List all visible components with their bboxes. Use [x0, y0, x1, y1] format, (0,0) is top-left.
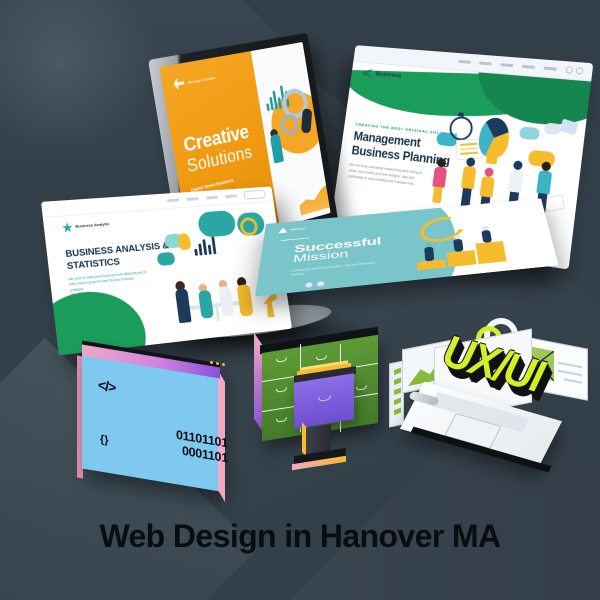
- page-title: Web Design in Hanover MA: [0, 518, 600, 555]
- plant-pot-icon: [263, 299, 278, 318]
- business-analysis-screen: Business Analytic BUSINESS ANALYSIS & ST…: [41, 186, 292, 355]
- filing-cabinet: [250, 334, 390, 480]
- nav-item[interactable]: [544, 67, 557, 71]
- nav-cta-button[interactable]: [243, 190, 266, 200]
- illustration-person: [458, 157, 477, 209]
- logo-text: Design Studio: [187, 75, 216, 85]
- triangle-logo-icon: [278, 227, 288, 233]
- nav-item[interactable]: [206, 196, 218, 199]
- code-browser-window: </> {} 01101101 0001101: [82, 356, 234, 488]
- illustration-person: [424, 247, 434, 262]
- arrow-logo-icon: [362, 69, 373, 78]
- mission-illustration: [393, 207, 547, 275]
- nav-item[interactable]: [522, 65, 535, 69]
- illustration-person: [198, 290, 214, 319]
- illustration-person: [237, 284, 254, 316]
- illustration-person: [481, 230, 492, 243]
- tool-icon[interactable]: [394, 387, 401, 395]
- speech-bubble-icon: [157, 252, 176, 266]
- nav-icons: [565, 66, 583, 74]
- window-dot[interactable]: [222, 363, 225, 367]
- flag-logo-icon: [173, 77, 186, 91]
- pagination-dot[interactable]: [305, 282, 313, 288]
- lightbulb-icon: [477, 116, 511, 159]
- tool-icon[interactable]: [394, 367, 401, 375]
- speech-bubble-icon: [519, 126, 540, 140]
- star-logo-icon: [62, 222, 73, 233]
- tool-icon[interactable]: [394, 407, 401, 415]
- logo-text: Business: [375, 71, 401, 79]
- lightbulb-base-icon: [486, 155, 498, 164]
- logo-text: Mission: [290, 227, 305, 231]
- nav-item[interactable]: [458, 60, 471, 63]
- window-dot[interactable]: [210, 361, 213, 365]
- speech-bubble-icon: [197, 210, 237, 238]
- nav-item[interactable]: [479, 62, 492, 65]
- nav-item[interactable]: [186, 197, 198, 200]
- poster-canvas: Business Creating the Best Original Solu…: [0, 0, 600, 600]
- tool-icon[interactable]: [394, 377, 401, 385]
- step-block: [447, 250, 477, 267]
- user-icon[interactable]: [575, 67, 583, 75]
- illustration-person: [301, 108, 312, 133]
- growth-chart-icon: [297, 181, 331, 216]
- nav-item[interactable]: [500, 63, 513, 66]
- step-block: [475, 241, 506, 264]
- tool-icon[interactable]: [394, 397, 401, 405]
- open-drawer[interactable]: [294, 373, 354, 429]
- ux-ui-laptop-scene: UX/UI: [388, 318, 584, 490]
- logo-text: Business Analytic: [75, 222, 110, 230]
- step-block: [417, 259, 446, 270]
- nav-item[interactable]: [225, 195, 237, 198]
- lightbulb-icon: [177, 233, 191, 251]
- curved-arrow-icon: [413, 212, 471, 247]
- code-brace-icon: {}: [100, 433, 109, 446]
- search-icon[interactable]: [565, 66, 573, 74]
- illustration-person: [218, 286, 234, 317]
- business-analysis-logo[interactable]: Business Analytic: [62, 219, 110, 233]
- bar-chart-icon: [193, 237, 217, 256]
- code-tag-icon: </>: [98, 377, 115, 396]
- pagination-dot[interactable]: [317, 281, 325, 287]
- illustration-person: [453, 239, 463, 252]
- background-glow: [0, 0, 160, 160]
- illustration-person: [175, 288, 192, 323]
- card-icon: [559, 119, 579, 136]
- illustration-person: [430, 158, 448, 204]
- table-leg: [215, 305, 220, 321]
- business-analysis-body: We work to make your business work effic…: [68, 270, 149, 294]
- creative-logo[interactable]: Design Studio: [173, 66, 245, 91]
- window-dot[interactable]: [216, 362, 219, 366]
- nav-item[interactable]: [167, 199, 179, 202]
- speech-bubble-icon: [544, 123, 562, 136]
